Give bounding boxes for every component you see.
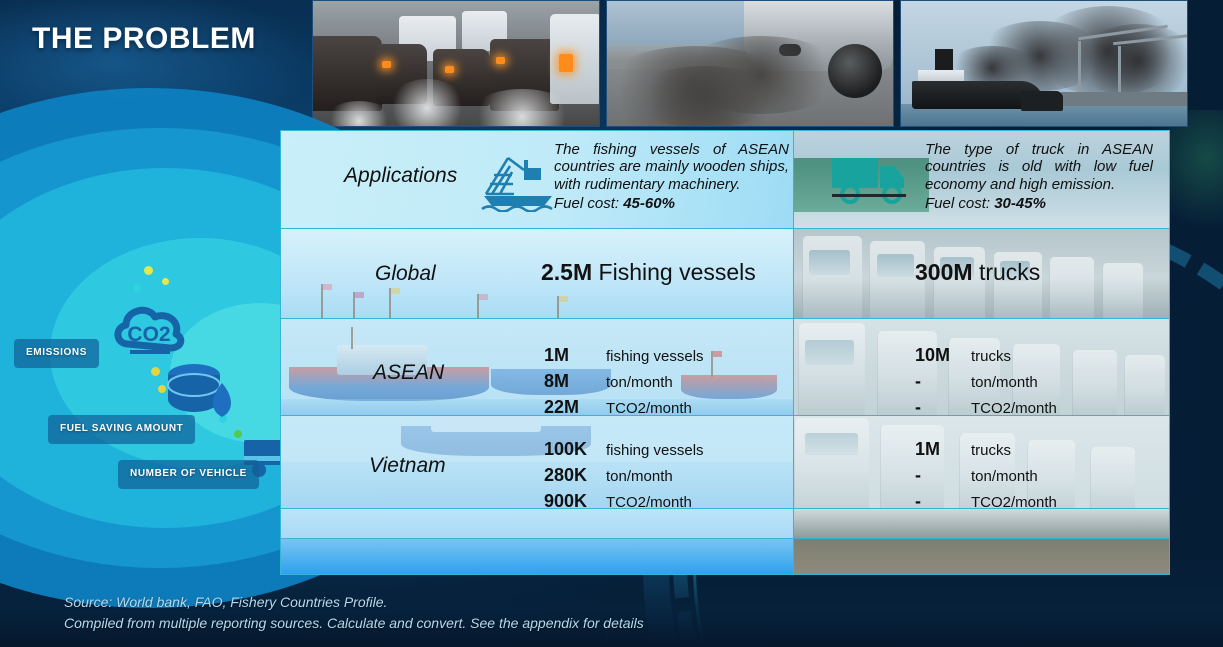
- sidebar-item-label: FUEL SAVING AMOUNT: [60, 423, 183, 434]
- stat-row: 8M ton/month: [544, 371, 704, 392]
- global-vessels-stat: 2.5M Fishing vessels: [541, 259, 756, 286]
- sidebar-item-number-of-vehicle[interactable]: NUMBER OF VEHICLE: [118, 460, 259, 489]
- global-trucks-stat: 300M trucks: [915, 259, 1040, 286]
- table-cell-global-vessels: Global 2.5M Fishing vessels: [281, 229, 794, 318]
- sidebar-item-emissions[interactable]: EMISSIONS: [14, 339, 99, 368]
- stat-value: 2.5M: [541, 259, 592, 285]
- applications-note-vessels: The fishing vessels of ASEAN countries a…: [554, 141, 789, 213]
- stat-value: 8M: [544, 371, 606, 392]
- table-cell-global-trucks: 300M trucks: [794, 229, 1169, 318]
- table-row-asean: ASEAN 1M fishing vessels 8M ton/month 22…: [281, 319, 1169, 416]
- header-photo-strip: [312, 0, 1188, 127]
- stat-unit: trucks: [979, 259, 1040, 285]
- stat-value: 900K: [544, 491, 606, 508]
- sidebar-item-label: NUMBER OF VEHICLE: [130, 468, 247, 479]
- truck-icon: [830, 150, 914, 213]
- sidebar-item-fuel-saving-amount[interactable]: FUEL SAVING AMOUNT: [48, 415, 195, 444]
- note-text: The fishing vessels of ASEAN countries a…: [554, 141, 789, 193]
- table-cell-asean-trucks: 10M trucks - ton/month - TCO2/month: [794, 319, 1169, 415]
- stat-value: 22M: [544, 397, 606, 415]
- fuel-cost-value: 30-45%: [994, 195, 1046, 212]
- page-title: THE PROBLEM: [32, 22, 256, 56]
- stat-unit: Fishing vessels: [599, 259, 756, 285]
- table-cell-blank-right-2: [794, 539, 1169, 575]
- stat-unit: fishing vessels: [606, 348, 704, 365]
- bubble-dot-yellow-3: [151, 367, 160, 376]
- comparison-table: Applications: [280, 130, 1170, 575]
- stat-unit: TCO2/month: [971, 494, 1057, 508]
- stat-value: 280K: [544, 465, 606, 486]
- row-category-label: Vietnam: [369, 454, 446, 478]
- asean-vessels-stats: 1M fishing vessels 8M ton/month 22M TCO2…: [544, 345, 704, 415]
- stat-value: 1M: [915, 439, 971, 460]
- source-line-1: Source: World bank, FAO, Fishery Countri…: [64, 592, 644, 614]
- stat-row: - ton/month: [915, 371, 1057, 392]
- table-cell-blank-left-1: [281, 509, 794, 538]
- sidebar-item-label: EMISSIONS: [26, 347, 87, 358]
- table-row-blank-2: [281, 539, 1169, 575]
- row-category-label: Global: [375, 262, 436, 286]
- fishing-boat-icon: [480, 150, 560, 217]
- source-footnote: Source: World bank, FAO, Fishery Countri…: [64, 592, 644, 635]
- stat-unit: fishing vessels: [606, 442, 704, 459]
- stat-row: 280K ton/month: [544, 465, 704, 486]
- bubble-dot-cyan-1: [133, 284, 141, 292]
- table-row-blank-1: [281, 509, 1169, 539]
- asean-trucks-stats: 10M trucks - ton/month - TCO2/month: [915, 345, 1057, 415]
- traffic-jam-exhaust-photo: [312, 0, 600, 127]
- table-cell-vietnam-trucks: 1M trucks - ton/month - TCO2/month: [794, 416, 1169, 508]
- fuel-cost-value: 45-60%: [623, 195, 675, 212]
- fuel-cost-label: Fuel cost:: [554, 195, 619, 212]
- stat-value: 1M: [544, 345, 606, 366]
- stat-unit: ton/month: [971, 374, 1038, 391]
- stat-unit: ton/month: [606, 374, 673, 391]
- applications-note-trucks: The type of truck in ASEAN countries is …: [925, 141, 1153, 213]
- table-cell-applications-trucks: The type of truck in ASEAN countries is …: [794, 131, 1169, 228]
- row-category-label: ASEAN: [373, 361, 444, 385]
- table-row-applications: Applications: [281, 131, 1169, 229]
- stat-value: -: [915, 371, 971, 392]
- cargo-ship-smoke-port-photo: [900, 0, 1188, 127]
- stat-value: -: [915, 397, 971, 415]
- stat-unit: TCO2/month: [971, 400, 1057, 415]
- vehicle-tailpipe-smoke-photo: [606, 0, 894, 127]
- fuel-cost-label: Fuel cost:: [925, 195, 990, 212]
- vietnam-vessels-stats: 100K fishing vessels 280K ton/month 900K…: [544, 439, 704, 508]
- stat-unit: TCO2/month: [606, 400, 692, 415]
- table-cell-asean-vessels: ASEAN 1M fishing vessels 8M ton/month 22…: [281, 319, 794, 415]
- stat-row: - TCO2/month: [915, 491, 1057, 508]
- stat-row: 1M trucks: [915, 439, 1057, 460]
- stat-row: 1M fishing vessels: [544, 345, 704, 366]
- stat-value: -: [915, 491, 971, 508]
- note-text: The type of truck in ASEAN countries is …: [925, 141, 1153, 193]
- row-category-label: Applications: [344, 164, 457, 188]
- table-row-vietnam: Vietnam 100K fishing vessels 280K ton/mo…: [281, 416, 1169, 509]
- svg-text:CO2: CO2: [127, 323, 170, 346]
- stat-unit: TCO2/month: [606, 494, 692, 508]
- stat-unit: ton/month: [606, 468, 673, 485]
- stat-row: 100K fishing vessels: [544, 439, 704, 460]
- source-line-2: Compiled from multiple reporting sources…: [64, 613, 644, 635]
- stat-row: 10M trucks: [915, 345, 1057, 366]
- stat-value: 100K: [544, 439, 606, 460]
- vietnam-trucks-stats: 1M trucks - ton/month - TCO2/month: [915, 439, 1057, 508]
- stat-value: -: [915, 465, 971, 486]
- table-cell-vietnam-vessels: Vietnam 100K fishing vessels 280K ton/mo…: [281, 416, 794, 508]
- bubble-dot-yellow-2: [162, 278, 169, 285]
- table-row-global: Global 2.5M Fishing vessels 300M: [281, 229, 1169, 319]
- table-cell-blank-left-2: [281, 539, 794, 575]
- table-cell-blank-right-1: [794, 509, 1169, 538]
- stat-row: 900K TCO2/month: [544, 491, 704, 508]
- stat-row: - TCO2/month: [915, 397, 1057, 415]
- stat-value: 300M: [915, 259, 973, 285]
- stat-row: - ton/month: [915, 465, 1057, 486]
- bubble-dot-yellow-1: [144, 266, 153, 275]
- stat-unit: trucks: [971, 348, 1011, 365]
- stat-value: 10M: [915, 345, 971, 366]
- stat-unit: trucks: [971, 442, 1011, 459]
- stat-unit: ton/month: [971, 468, 1038, 485]
- table-cell-applications-vessels: Applications: [281, 131, 794, 228]
- stat-row: 22M TCO2/month: [544, 397, 704, 415]
